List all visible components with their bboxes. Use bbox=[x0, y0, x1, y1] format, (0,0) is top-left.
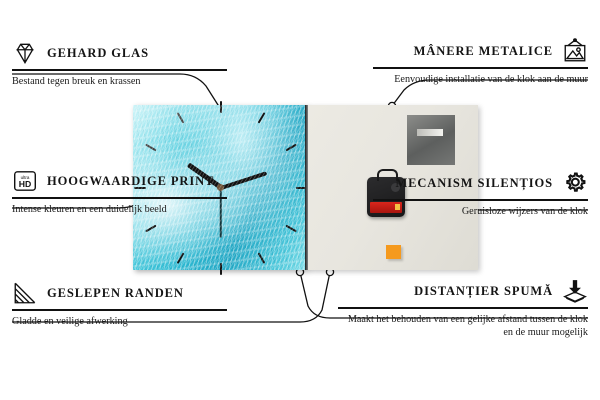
feature-description: Bestand tegen breuk en krassen bbox=[12, 75, 212, 88]
feature-description: Gladde en veilige afwerking bbox=[12, 315, 212, 328]
picture-frame-icon bbox=[562, 38, 588, 64]
feature-manere-metalice: MÂNERE METALICE Eenvoudige installatie v… bbox=[373, 38, 588, 86]
divider bbox=[12, 69, 227, 71]
infographic-canvas: GEHARD GLAS Bestand tegen breuk en krass… bbox=[0, 0, 600, 400]
feature-geslepen-randen: GESLEPEN RANDEN Gladde en veilige afwerk… bbox=[12, 280, 227, 328]
feature-title: GEHARD GLAS bbox=[47, 46, 149, 61]
divider bbox=[338, 307, 588, 309]
diamond-icon bbox=[12, 40, 38, 66]
gear-icon bbox=[562, 170, 588, 196]
feature-description: Geruisloze wijzers van de klok bbox=[373, 205, 588, 218]
feature-hoogwaardige-print: ultra HD HOOGWAARDIGE PRINT Intense kleu… bbox=[12, 168, 227, 216]
feature-description: Intense kleuren en een duidelijk beeld bbox=[12, 203, 212, 216]
svg-text:HD: HD bbox=[19, 179, 32, 189]
metal-plate bbox=[407, 115, 455, 165]
divider bbox=[373, 199, 588, 201]
ultra-hd-icon: ultra HD bbox=[12, 168, 38, 194]
beveled-edges-icon bbox=[12, 280, 38, 306]
divider bbox=[12, 197, 227, 199]
feature-distantier-spuma: DISTANȚIER SPUMĂ Maakt het behouden van … bbox=[338, 278, 588, 339]
foam-spacer-icon bbox=[562, 278, 588, 304]
feature-title: HOOGWAARDIGE PRINT bbox=[47, 174, 214, 189]
feature-title: MÂNERE METALICE bbox=[414, 44, 553, 59]
feature-mecanism-silentios: MECANISM SILENȚIOS Geruisloze wijzers va… bbox=[373, 170, 588, 218]
divider bbox=[12, 309, 227, 311]
feature-title: GESLEPEN RANDEN bbox=[47, 286, 184, 301]
feature-description: Eenvoudige installatie van de klok aan d… bbox=[373, 73, 588, 86]
feature-description: Maakt het behouden van een gelijke afsta… bbox=[338, 313, 588, 339]
feature-title: MECANISM SILENȚIOS bbox=[395, 176, 553, 191]
foam-spacer bbox=[386, 245, 401, 259]
feature-gehard-glas: GEHARD GLAS Bestand tegen breuk en krass… bbox=[12, 40, 227, 88]
divider bbox=[373, 67, 588, 69]
feature-title: DISTANȚIER SPUMĂ bbox=[414, 284, 553, 299]
